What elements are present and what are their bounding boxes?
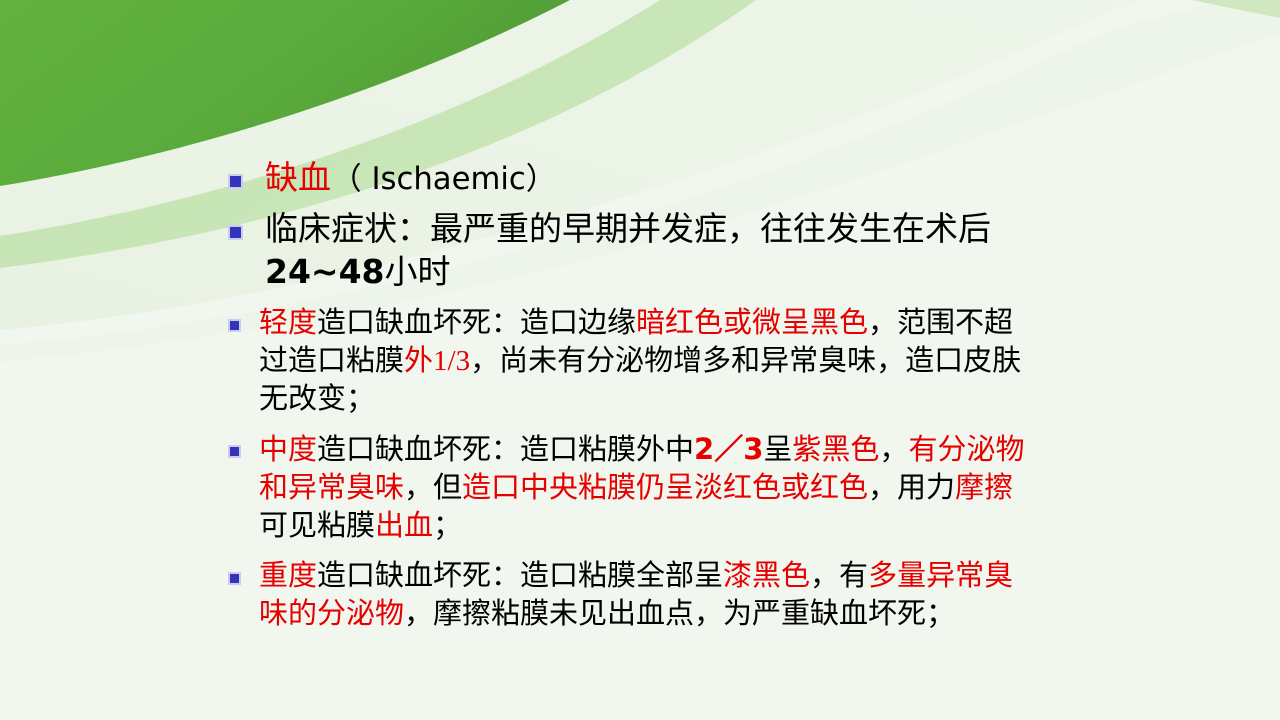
seg-moderate-bleed: 出血 <box>375 510 433 542</box>
bullet-text-ischaemic-title: 缺血（ Ischaemic） <box>265 158 1038 201</box>
bullet-text-mild-ischaemia: 轻度造口缺血坏死：造口边缘暗红色或微呈黑色，范围不超过造口粘膜外1/3，尚未有分… <box>259 304 1038 418</box>
seg-mild-desc1: 造口缺血坏死：造口边缘 <box>317 307 636 339</box>
seg-mild-degree: 轻度 <box>259 307 317 339</box>
bullet-moderate-ischaemia: 中度造口缺血坏死：造口粘膜外中2／3呈紫黑色，有分泌物和异常臭味，但造口中央粘膜… <box>228 430 1038 545</box>
bullet-severe-ischaemia: 重度造口缺血坏死：造口粘膜全部呈漆黑色，有多量异常臭味的分泌物，摩擦粘膜未见出血… <box>228 557 1038 633</box>
seg-moderate-center: 造口中央粘膜仍呈淡红色或红色 <box>462 472 868 504</box>
bullet-marker-square <box>228 174 243 189</box>
seg-moderate-color: 紫黑色 <box>792 434 879 466</box>
seg-severe-desc1: 造口缺血坏死：造口粘膜全部呈 <box>317 560 723 592</box>
seg-symptoms-tail: 小时 <box>385 255 451 291</box>
bullet-mild-ischaemia: 轻度造口缺血坏死：造口边缘暗红色或微呈黑色，范围不超过造口粘膜外1/3，尚未有分… <box>228 304 1038 418</box>
bullet-marker-square <box>228 319 241 332</box>
seg-severe-has: ，有 <box>810 560 868 592</box>
light-green-band-tip <box>1192 0 1280 18</box>
bullet-ischaemic-title: 缺血（ Ischaemic） <box>228 158 1038 201</box>
bullet-text-moderate-ischaemia: 中度造口缺血坏死：造口粘膜外中2／3呈紫黑色，有分泌物和异常臭味，但造口中央粘膜… <box>259 430 1038 545</box>
seg-moderate-force: ，用力 <box>868 472 955 504</box>
seg-mild-extent: 外1/3 <box>404 345 470 377</box>
seg-black-ischaemic: （ Ischaemic） <box>331 162 556 197</box>
seg-red-quexue: 缺血 <box>265 161 331 197</box>
seg-moderate-visible: 可见粘膜 <box>259 510 375 542</box>
seg-severe-desc2: ，摩擦粘膜未见出血点，为严重缺血坏死； <box>404 598 955 630</box>
seg-moderate-degree: 中度 <box>259 434 317 466</box>
seg-symptoms-hours: 24~48 <box>265 252 385 291</box>
seg-moderate-comma1: ， <box>879 434 908 466</box>
slide-body: 缺血（ Ischaemic） 临床症状：最严重的早期并发症，往往发生在术后24~… <box>228 158 1038 635</box>
bullet-clinical-symptoms: 临床症状：最严重的早期并发症，往往发生在术后24~48小时 <box>228 209 1038 294</box>
seg-moderate-rub: 摩擦 <box>955 472 1013 504</box>
bullet-marker-square <box>228 445 241 458</box>
seg-moderate-desc1: 造口缺血坏死：造口粘膜外中 <box>317 434 694 466</box>
bullet-marker-square <box>228 225 243 240</box>
bullet-text-severe-ischaemia: 重度造口缺血坏死：造口粘膜全部呈漆黑色，有多量异常臭味的分泌物，摩擦粘膜未见出血… <box>259 557 1038 633</box>
seg-severe-color: 漆黑色 <box>723 560 810 592</box>
bullet-marker-square <box>228 572 241 585</box>
seg-moderate-cheng: 呈 <box>763 434 792 466</box>
seg-moderate-fraction: 2／3 <box>694 432 763 466</box>
seg-mild-color: 暗红色或微呈黑色 <box>636 307 868 339</box>
bullet-text-clinical-symptoms: 临床症状：最严重的早期并发症，往往发生在术后24~48小时 <box>265 209 1038 294</box>
seg-symptoms-lead: 临床症状：最严重的早期并发症，往往发生在术后 <box>265 212 991 248</box>
seg-severe-degree: 重度 <box>259 560 317 592</box>
seg-moderate-but: ，但 <box>404 472 462 504</box>
presentation-slide: 缺血（ Ischaemic） 临床症状：最严重的早期并发症，往往发生在术后24~… <box>0 0 1280 720</box>
seg-moderate-end: ； <box>433 510 462 542</box>
